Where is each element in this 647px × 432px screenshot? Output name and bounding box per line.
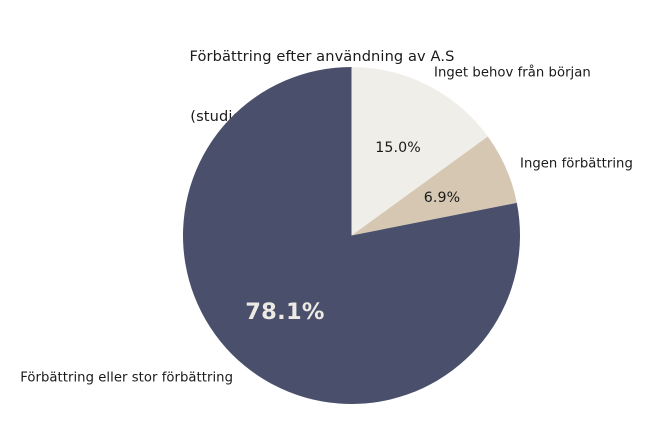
pie-category-label-inget-behov: Inget behov från början (434, 66, 591, 81)
pie-chart-figure: Förbättring efter användning av A.S (stu… (0, 0, 647, 432)
pie-value-label-inget-behov: 15.0% (375, 140, 421, 156)
pie-category-label-ingen-forbattring: Ingen förbättring (520, 157, 633, 172)
pie-value-label-forbattring: 78.1% (245, 299, 325, 325)
pie-category-label-forbattring: Förbättring eller stor förbättring (20, 371, 233, 386)
pie-value-label-ingen-forbattring: 6.9% (424, 190, 460, 206)
